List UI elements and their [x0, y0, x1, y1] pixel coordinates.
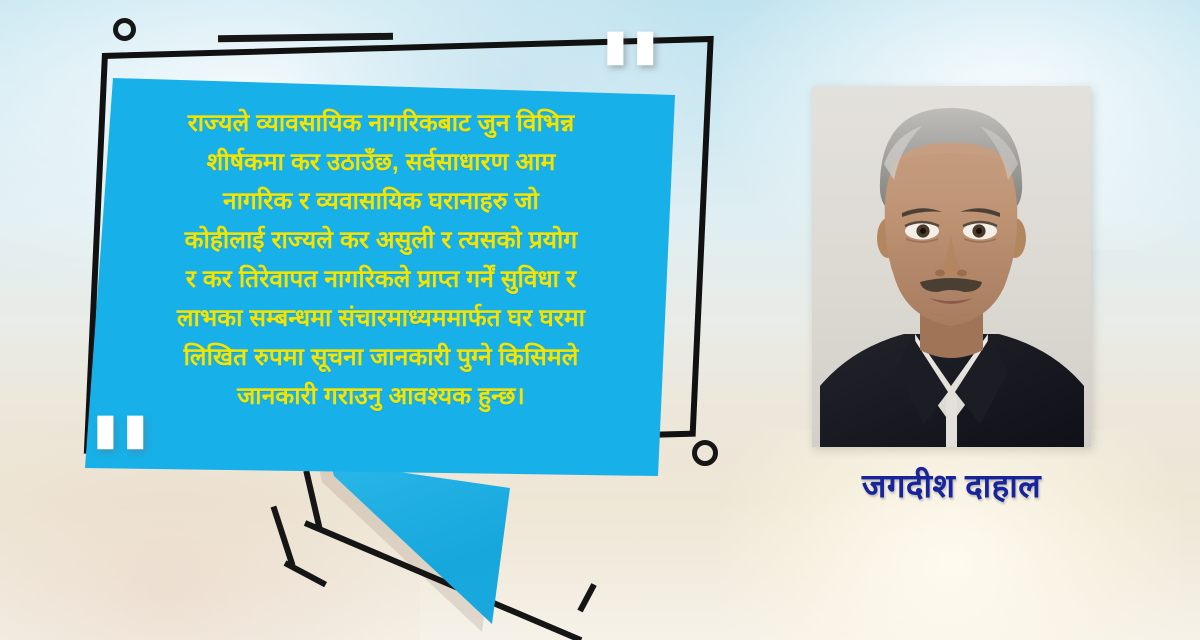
- quote-text: राज्यले व्यावसायिक नागरिकबाट जुन विभिन्न…: [105, 104, 657, 416]
- person-name: जगदीश दाहाल: [812, 462, 1091, 507]
- quote-line: जानकारी गराउनु आवश्यक हुन्छ।: [105, 377, 657, 416]
- quote-line: कोहीलाई राज्यले कर असुली र त्यसको प्रयोग: [105, 221, 657, 260]
- quote-line: राज्यले व्यावसायिक नागरिकबाट जुन विभिन्न: [105, 104, 657, 143]
- quote-poster: राज्यले व्यावसायिक नागरिकबाट जुन विभिन्न…: [0, 0, 1200, 640]
- quote-line: नागरिक र व्यवासायिक घरानाहरु जो: [105, 182, 657, 221]
- quote-line: र कर तिरेवापत नागरिकले प्राप्त गर्नें सु…: [105, 260, 657, 299]
- quote-line: लाभका सम्बन्धमा संचारमाध्यममार्फत घर घरम…: [105, 299, 657, 338]
- circle-outline-icon: [113, 18, 136, 41]
- circle-outline-icon: [692, 440, 718, 466]
- quote-line: लिखित रुपमा सूचना जानकारी पुग्ने किसिमले: [105, 338, 657, 377]
- portrait-photo: [812, 86, 1091, 447]
- close-quote-icon: ": [594, 18, 666, 142]
- quote-line: शीर्षकमा कर उठाउँछ, सर्वसाधारण आम: [105, 143, 657, 182]
- open-quote-icon: ": [84, 402, 156, 526]
